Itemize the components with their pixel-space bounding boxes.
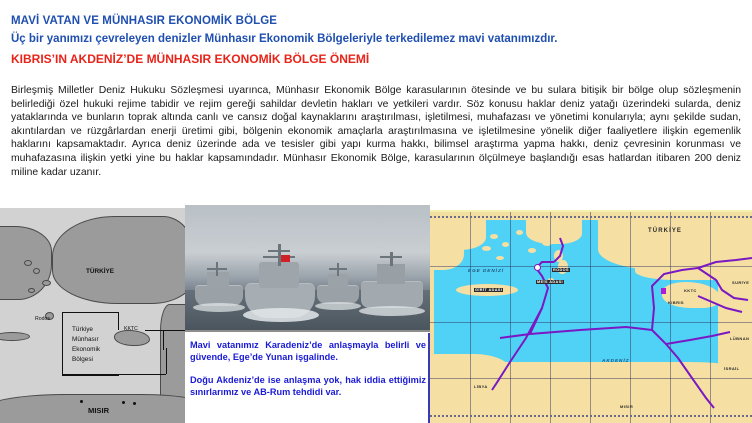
- left-map-label-eez-4: Bölgesi: [72, 356, 93, 363]
- right-map-label-rodos: RODOS: [552, 268, 570, 272]
- right-map-label-turkiye: TÜRKİYE: [648, 228, 682, 234]
- slide-root: MAVİ VATAN VE MÜNHASIR EKONOMİK BÖLGE Üç…: [0, 0, 752, 423]
- left-map-cyprus: [114, 330, 150, 346]
- left-map-label-rodos: Rodos: [35, 316, 50, 322]
- left-map-label-eez-2: Münhasır: [72, 336, 99, 343]
- left-map-eez-boundary: [118, 348, 167, 374]
- warship-superstructure: [328, 274, 348, 288]
- right-map-eez-lines: [430, 212, 752, 423]
- bow-wave: [193, 303, 245, 312]
- warship-radar: [263, 256, 295, 259]
- right-map-label-suriye: SURİYE: [732, 280, 749, 285]
- section-heading-red: KIBRIS’IN AKDENİZ’DE MÜNHASIR EKONOMİK B…: [11, 51, 743, 67]
- warship-superstructure: [207, 272, 229, 288]
- left-map-eez-boundary: [118, 312, 119, 330]
- left-map-label-eez-1: Türkiye: [72, 326, 93, 333]
- left-map-label-eez-3: Ekonomik: [72, 346, 100, 353]
- warship-radar: [329, 268, 347, 270]
- right-map-label-misir: MISIR: [620, 404, 633, 409]
- right-map-image: TÜRKİYE EGE DENİZİ AKDENİZ GİRİT ADASI R…: [430, 210, 752, 423]
- right-map-label-libya: LİBYA: [474, 384, 488, 389]
- body-paragraph: Birleşmiş Milletler Deniz Hukuku Sözleşm…: [11, 84, 741, 179]
- warship-hull: [361, 281, 423, 308]
- right-map-label-kibris: KIBRIS: [668, 300, 684, 305]
- bow-wave: [243, 308, 319, 322]
- left-map-island: [33, 268, 40, 274]
- left-map-city-dot: [80, 400, 83, 403]
- right-map-label-kktc: KKTC: [684, 288, 697, 293]
- left-map-island: [24, 260, 32, 266]
- caption-paragraph-1: Mavi vatanımız Karadeniz’de anlaşmayla b…: [186, 333, 430, 364]
- page-title: MAVİ VATAN VE MÜNHASIR EKONOMİK BÖLGE: [11, 14, 743, 29]
- caption-block: Mavi vatanımız Karadeniz’de anlaşmayla b…: [186, 333, 430, 423]
- heading-block: MAVİ VATAN VE MÜNHASIR EKONOMİK BÖLGE Üç…: [11, 14, 743, 67]
- bow-wave: [359, 306, 425, 316]
- right-map-marker-cyprus-west: [661, 288, 666, 294]
- warship: [361, 254, 423, 308]
- warship-mast: [390, 252, 393, 266]
- image-row: TÜRKİYE Rodos KKTC Türkiye Münhasır Ekon…: [0, 205, 752, 423]
- left-map-eez-boundary: [145, 330, 185, 331]
- right-map-label-meis: MEİS ADASI: [536, 280, 564, 284]
- left-map-eez-boundary: [163, 330, 164, 350]
- photo-bottom-edge: [185, 330, 430, 332]
- warship-superstructure: [377, 264, 405, 284]
- left-map-image: TÜRKİYE Rodos KKTC Türkiye Münhasır Ekon…: [0, 208, 185, 423]
- caption-paragraph-2: Doğu Akdeniz’de ise anlaşma yok, hak idd…: [186, 364, 430, 399]
- left-map-city-dot: [122, 401, 125, 404]
- naval-fleet-photo: [185, 205, 430, 330]
- left-map-anatolia: [52, 216, 185, 304]
- right-map-label-akdeniz: AKDENİZ: [602, 358, 629, 363]
- left-map-eez-boundary: [118, 374, 166, 375]
- warship-radar: [380, 256, 402, 258]
- warship-radar: [207, 268, 227, 270]
- left-map-label-turkiye: TÜRKİYE: [86, 268, 114, 275]
- bow-wave: [315, 302, 361, 310]
- page-subtitle: Üç bir yanımızı çevreleyen denizler Münh…: [11, 31, 743, 47]
- turkish-flag-icon: [281, 255, 290, 262]
- left-map-eez-boundary: [62, 374, 118, 375]
- left-map-island: [42, 280, 51, 286]
- right-map-label-girit: GİRİT ADASI: [474, 288, 503, 292]
- left-map-label-kktc: KKTC: [124, 326, 138, 332]
- left-map-label-misir: MISIR: [88, 406, 109, 415]
- left-map-island: [28, 288, 35, 293]
- left-map-city-dot: [133, 402, 136, 405]
- left-map-eez-boundary: [62, 312, 119, 376]
- warship: [195, 266, 243, 306]
- right-map-label-lubnan: LÜBNAN: [730, 336, 749, 341]
- warship: [317, 264, 359, 304]
- right-map-marker-meis: [534, 264, 541, 271]
- right-map-label-israil: İSRAİL: [724, 366, 740, 371]
- right-map-label-ege: EGE DENİZİ: [468, 268, 504, 273]
- warship-radar: [268, 250, 290, 252]
